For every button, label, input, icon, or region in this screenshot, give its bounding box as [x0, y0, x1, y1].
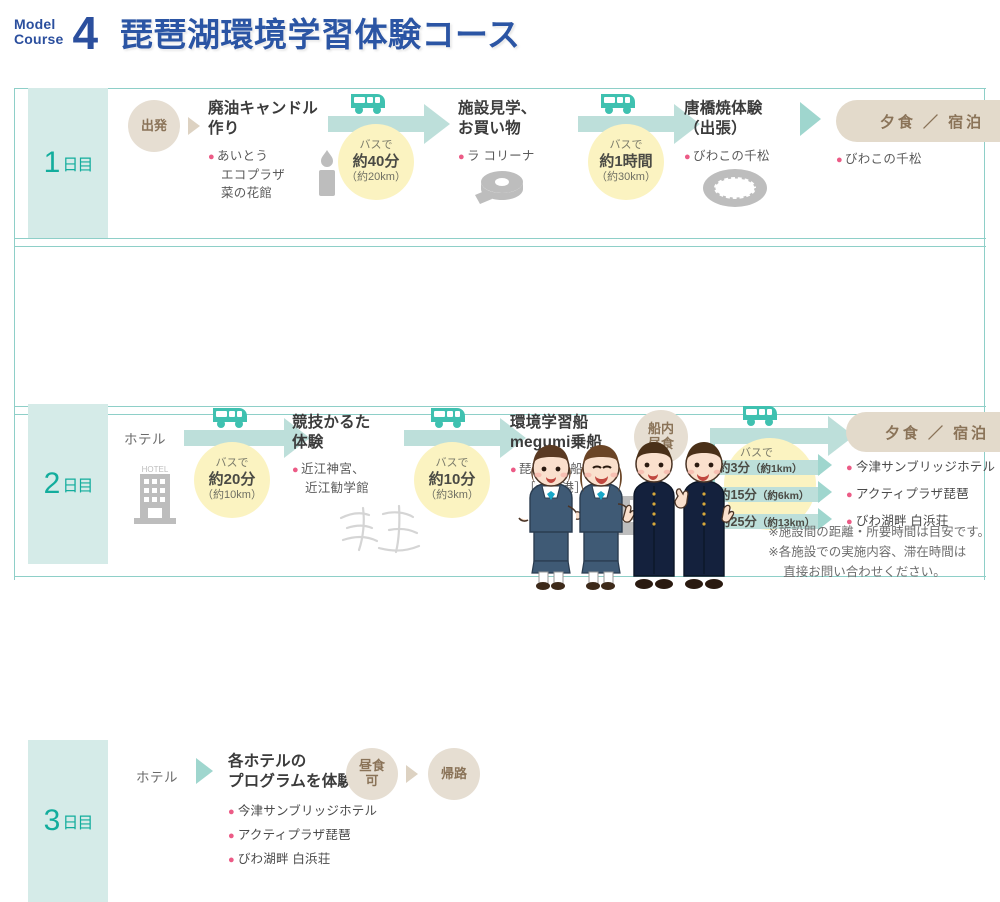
bus-icon	[348, 91, 388, 115]
course-number: 4	[72, 13, 98, 53]
day1-stop1-venue: ●あいとう エコプラザ 菜の花館	[208, 147, 285, 202]
day1-end-venue: ●びわこの千松	[836, 150, 922, 169]
day3-stop-title: 各ホテルの プログラムを体験	[228, 752, 353, 793]
day-3-number: 3	[44, 804, 60, 838]
footnote-1: ※施設間の距離・所要時間は目安です。	[768, 522, 990, 542]
day-1-label: 日目	[62, 151, 92, 175]
day1-transport-2-time: バスで 約1時間 （約30km）	[588, 124, 664, 200]
day3-return-badge: 帰路	[428, 748, 480, 800]
day1-stop1-title: 廃油キャンドル 作り	[208, 99, 318, 140]
day-3-badge: 3 日目	[28, 740, 108, 902]
day3-hotel-2: ●アクティプラザ琵琶	[228, 824, 351, 843]
day3-hotel-1: ●今津サンブリッジホテル	[228, 800, 377, 819]
day3-lunch-badge: 昼食 可	[346, 748, 398, 800]
row-divider-1	[14, 238, 986, 239]
day1-stop3-venue: ●びわこの千松	[684, 147, 770, 166]
departure-badge: 出発	[128, 100, 180, 152]
footnote-2: ※各施設での実施内容、滞在時間は	[768, 542, 990, 562]
candle-icon	[314, 150, 340, 196]
day1-stop3-title: 唐橋焼体験 （出張）	[684, 99, 763, 140]
arrow-icon-depart	[188, 117, 200, 135]
arrow-icon-day3	[196, 758, 213, 784]
students-illustration	[492, 424, 742, 590]
day1-stop2-title: 施設見学、 お買い物	[458, 99, 537, 140]
page-title: 琵琶湖環境学習体験コース	[120, 8, 520, 56]
baumkuchen-icon	[472, 168, 526, 206]
day-row-1: 1 日目 出発 廃油キャンドル 作り ●あいとう エコプラザ 菜の花館	[14, 88, 986, 238]
day1-end-badge: 夕食 ／ 宿泊	[836, 100, 1000, 142]
bullet-icon: ●	[208, 151, 215, 163]
arrow-icon-day3-return	[406, 765, 418, 783]
arrow-icon-day1-end	[800, 102, 821, 136]
bullet-icon: ●	[228, 830, 235, 842]
footnote-3: 直接お問い合わせください。	[768, 562, 990, 582]
day1-stop2-venue: ●ラ コリーナ	[458, 147, 535, 166]
calligraphy-decoration	[333, 500, 425, 558]
day3-start-label: ホテル	[136, 766, 178, 786]
model-course-label: Model Course	[14, 17, 63, 47]
bullet-icon: ●	[228, 854, 235, 866]
page-header: Model Course 4 琵琶湖環境学習体験コース	[14, 8, 520, 56]
day-3-content: ホテル 各ホテルの プログラムを体験 ●今津サンブリッジホテル ●アクティプラザ…	[110, 740, 986, 902]
footnotes: ※施設間の距離・所要時間は目安です。 ※各施設での実施内容、滞在時間は 直接お問…	[768, 522, 990, 582]
day1-transport-1-time: バスで 約40分 （約20km）	[338, 124, 414, 200]
bullet-icon: ●	[458, 151, 465, 163]
bus-icon	[598, 91, 638, 115]
day-1-badge: 1 日目	[28, 88, 108, 238]
day3-hotel-3: ●びわ湖畔 白浜荘	[228, 848, 330, 867]
bullet-icon: ●	[684, 151, 691, 163]
day-row-2: 2 日目 ホテル HOTEL	[14, 246, 986, 406]
pottery-icon	[702, 168, 768, 208]
day-3-label: 日目	[62, 809, 92, 833]
day-1-number: 1	[44, 146, 60, 180]
bullet-icon: ●	[836, 154, 843, 166]
bullet-icon: ●	[228, 806, 235, 818]
day-1-content: 出発 廃油キャンドル 作り ●あいとう エコプラザ 菜の花館	[110, 88, 986, 238]
